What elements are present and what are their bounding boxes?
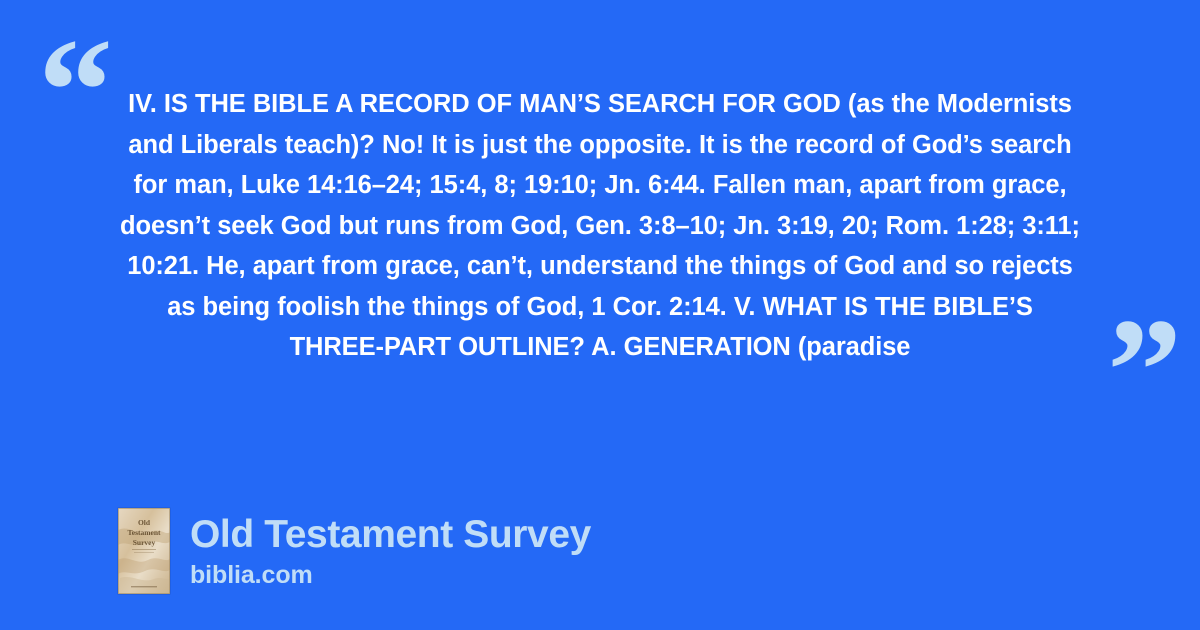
quote-text: IV. IS THE BIBLE A RECORD OF MAN’S SEARC… [118, 84, 1082, 368]
quote-block: IV. IS THE BIBLE A RECORD OF MAN’S SEARC… [118, 84, 1082, 368]
site-name: biblia.com [190, 559, 591, 591]
book-cover-title-line3: Survey [133, 538, 156, 547]
book-cover-title-line1: Old [138, 518, 151, 527]
footer-text-group: Old Testament Survey biblia.com [190, 512, 591, 591]
resource-title: Old Testament Survey [190, 512, 591, 557]
closing-quotation-mark-icon: ” [1107, 296, 1180, 446]
quote-card: “ IV. IS THE BIBLE A RECORD OF MAN’S SEA… [0, 0, 1200, 630]
attribution-footer: Old Testament Survey Old Testament Surve… [118, 508, 591, 594]
opening-quotation-mark-icon: “ [38, 16, 111, 166]
book-cover-title-line2: Testament [127, 528, 161, 537]
book-cover-icon: Old Testament Survey [118, 508, 170, 594]
